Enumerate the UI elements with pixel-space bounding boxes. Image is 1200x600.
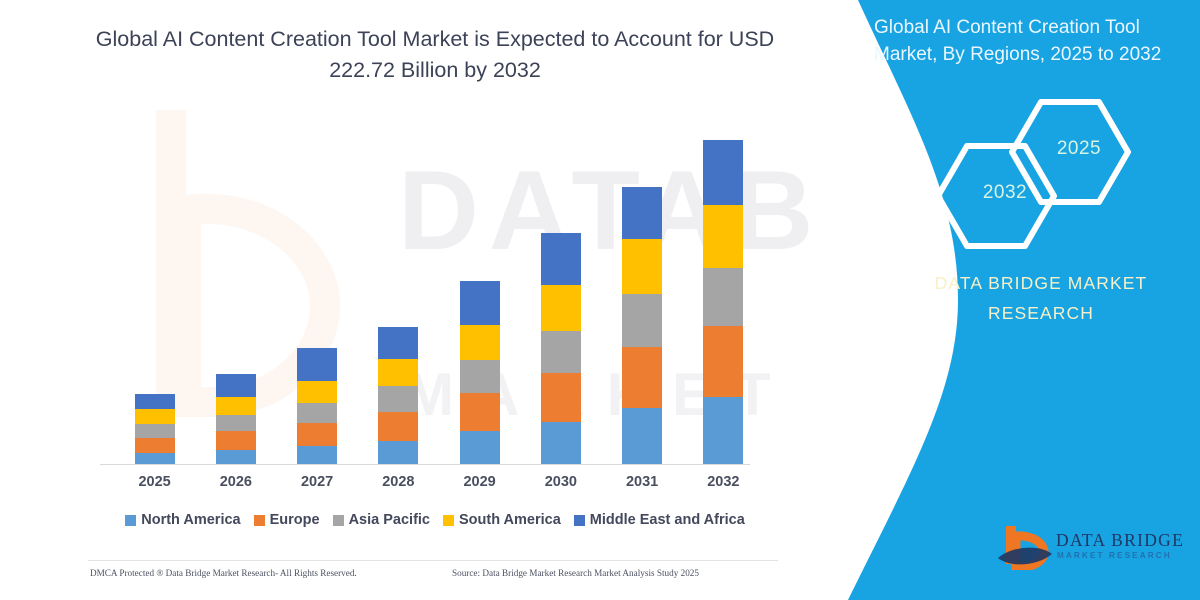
bar-segment-2031-s1: [622, 347, 662, 409]
bar-segment-2027-s3: [297, 381, 337, 403]
bar-segment-2028-s3: [378, 359, 418, 386]
legend-label: Europe: [270, 512, 320, 528]
x-tick-2028: 2028: [363, 474, 433, 490]
legend-item-2[interactable]: Asia Pacific: [333, 512, 430, 528]
bar-segment-2032-s3: [703, 205, 743, 268]
bar-segment-2028-s2: [378, 386, 418, 411]
legend-swatch-icon: [574, 515, 585, 526]
legend-swatch-icon: [333, 515, 344, 526]
legend-item-0[interactable]: North America: [125, 512, 240, 528]
bar-2028[interactable]: [378, 327, 418, 465]
bar-segment-2031-s3: [622, 239, 662, 295]
x-tick-2025: 2025: [120, 474, 190, 490]
bar-segment-2029-s4: [460, 281, 500, 325]
bar-segment-2027-s0: [297, 446, 337, 465]
bar-segment-2025-s1: [135, 438, 175, 454]
bar-segment-2032-s4: [703, 140, 743, 205]
hex-badge-2025-label: 2025: [1039, 138, 1119, 160]
legend-label: Asia Pacific: [349, 512, 430, 528]
legend-item-1[interactable]: Europe: [254, 512, 320, 528]
data-bridge-logo: DATA BRIDGE MARKET RESEARCH: [996, 524, 1186, 576]
x-tick-2026: 2026: [201, 474, 271, 490]
bar-segment-2029-s2: [460, 360, 500, 392]
bar-2025[interactable]: [135, 394, 175, 465]
bar-segment-2028-s1: [378, 412, 418, 441]
bar-segment-2027-s4: [297, 348, 337, 382]
bar-chart-plot: [95, 140, 775, 465]
legend-item-4[interactable]: Middle East and Africa: [574, 512, 745, 528]
x-tick-2027: 2027: [282, 474, 352, 490]
data-bridge-mark-icon: [996, 524, 1054, 570]
footer-copyright: DMCA Protected ® Data Bridge Market Rese…: [90, 568, 357, 578]
x-axis-tick-labels: 20252026202720282029203020312032: [95, 474, 775, 500]
bar-2031[interactable]: [622, 187, 662, 465]
chart-legend: North AmericaEuropeAsia PacificSouth Ame…: [95, 512, 775, 528]
bar-segment-2030-s1: [541, 373, 581, 422]
hex-badge-2032-label: 2032: [965, 182, 1045, 204]
bar-segment-2027-s1: [297, 423, 337, 446]
legend-item-3[interactable]: South America: [443, 512, 561, 528]
x-tick-2031: 2031: [607, 474, 677, 490]
bar-segment-2026-s1: [216, 431, 256, 450]
bar-segment-2030-s0: [541, 422, 581, 465]
bar-2027[interactable]: [297, 348, 337, 465]
bar-segment-2026-s0: [216, 450, 256, 465]
legend-swatch-icon: [125, 515, 136, 526]
legend-swatch-icon: [443, 515, 454, 526]
chart-panel: DATABRIDGE MARKET RESEARCH Global AI Con…: [0, 0, 830, 600]
bar-2029[interactable]: [460, 280, 500, 465]
legend-swatch-icon: [254, 515, 265, 526]
chart-title: Global AI Content Creation Tool Market i…: [95, 24, 775, 86]
bar-segment-2030-s2: [541, 331, 581, 373]
logo-tagline: MARKET RESEARCH: [1057, 551, 1172, 560]
bar-segment-2031-s0: [622, 408, 662, 465]
bar-2030[interactable]: [541, 233, 581, 465]
bar-segment-2031-s4: [622, 187, 662, 238]
bar-segment-2031-s2: [622, 294, 662, 346]
footer-source: Source: Data Bridge Market Research Mark…: [452, 568, 699, 578]
bar-2026[interactable]: [216, 374, 256, 465]
bar-2032[interactable]: [703, 140, 743, 465]
legend-label: North America: [141, 512, 240, 528]
brand-wordmark: DATA BRIDGE MARKET RESEARCH: [882, 268, 1200, 328]
bar-segment-2028-s4: [378, 327, 418, 359]
bar-segment-2032-s1: [703, 326, 743, 397]
bar-segment-2027-s2: [297, 403, 337, 423]
bar-segment-2029-s1: [460, 393, 500, 432]
bar-segment-2025-s4: [135, 394, 175, 410]
bar-segment-2029-s0: [460, 431, 500, 465]
x-axis-line: [100, 464, 750, 465]
x-tick-2029: 2029: [445, 474, 515, 490]
bar-segment-2028-s0: [378, 441, 418, 465]
bar-segment-2025-s3: [135, 409, 175, 424]
bar-segment-2029-s3: [460, 325, 500, 361]
bar-segment-2026-s3: [216, 397, 256, 415]
legend-label: South America: [459, 512, 561, 528]
bar-segment-2032-s2: [703, 268, 743, 326]
logo-name: DATA BRIDGE: [1056, 530, 1184, 551]
brand-line-1: DATA BRIDGE MARKET: [882, 268, 1200, 298]
legend-label: Middle East and Africa: [590, 512, 745, 528]
x-tick-2032: 2032: [688, 474, 758, 490]
bar-segment-2030-s3: [541, 285, 581, 331]
bar-segment-2025-s2: [135, 424, 175, 438]
brand-line-2: RESEARCH: [882, 298, 1200, 328]
panel-title: Global AI Content Creation Tool Market, …: [762, 14, 1200, 68]
bar-segment-2032-s0: [703, 397, 743, 465]
bar-segment-2030-s4: [541, 233, 581, 284]
bar-segment-2026-s2: [216, 415, 256, 432]
footer-divider: [88, 560, 778, 561]
x-tick-2030: 2030: [526, 474, 596, 490]
bar-segment-2026-s4: [216, 374, 256, 397]
